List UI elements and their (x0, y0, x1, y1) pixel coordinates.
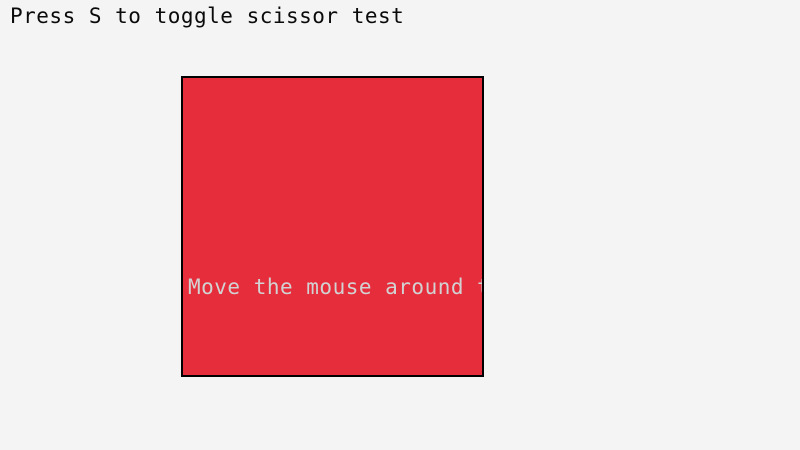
demo-canvas: Press S to toggle scissor test Move the … (0, 0, 800, 450)
instruction-label: Press S to toggle scissor test (10, 3, 404, 29)
scissor-clipped-text: Move the mouse around to resize the scis… (188, 274, 484, 300)
scissor-rectangle[interactable]: Move the mouse around to resize the scis… (181, 76, 484, 377)
